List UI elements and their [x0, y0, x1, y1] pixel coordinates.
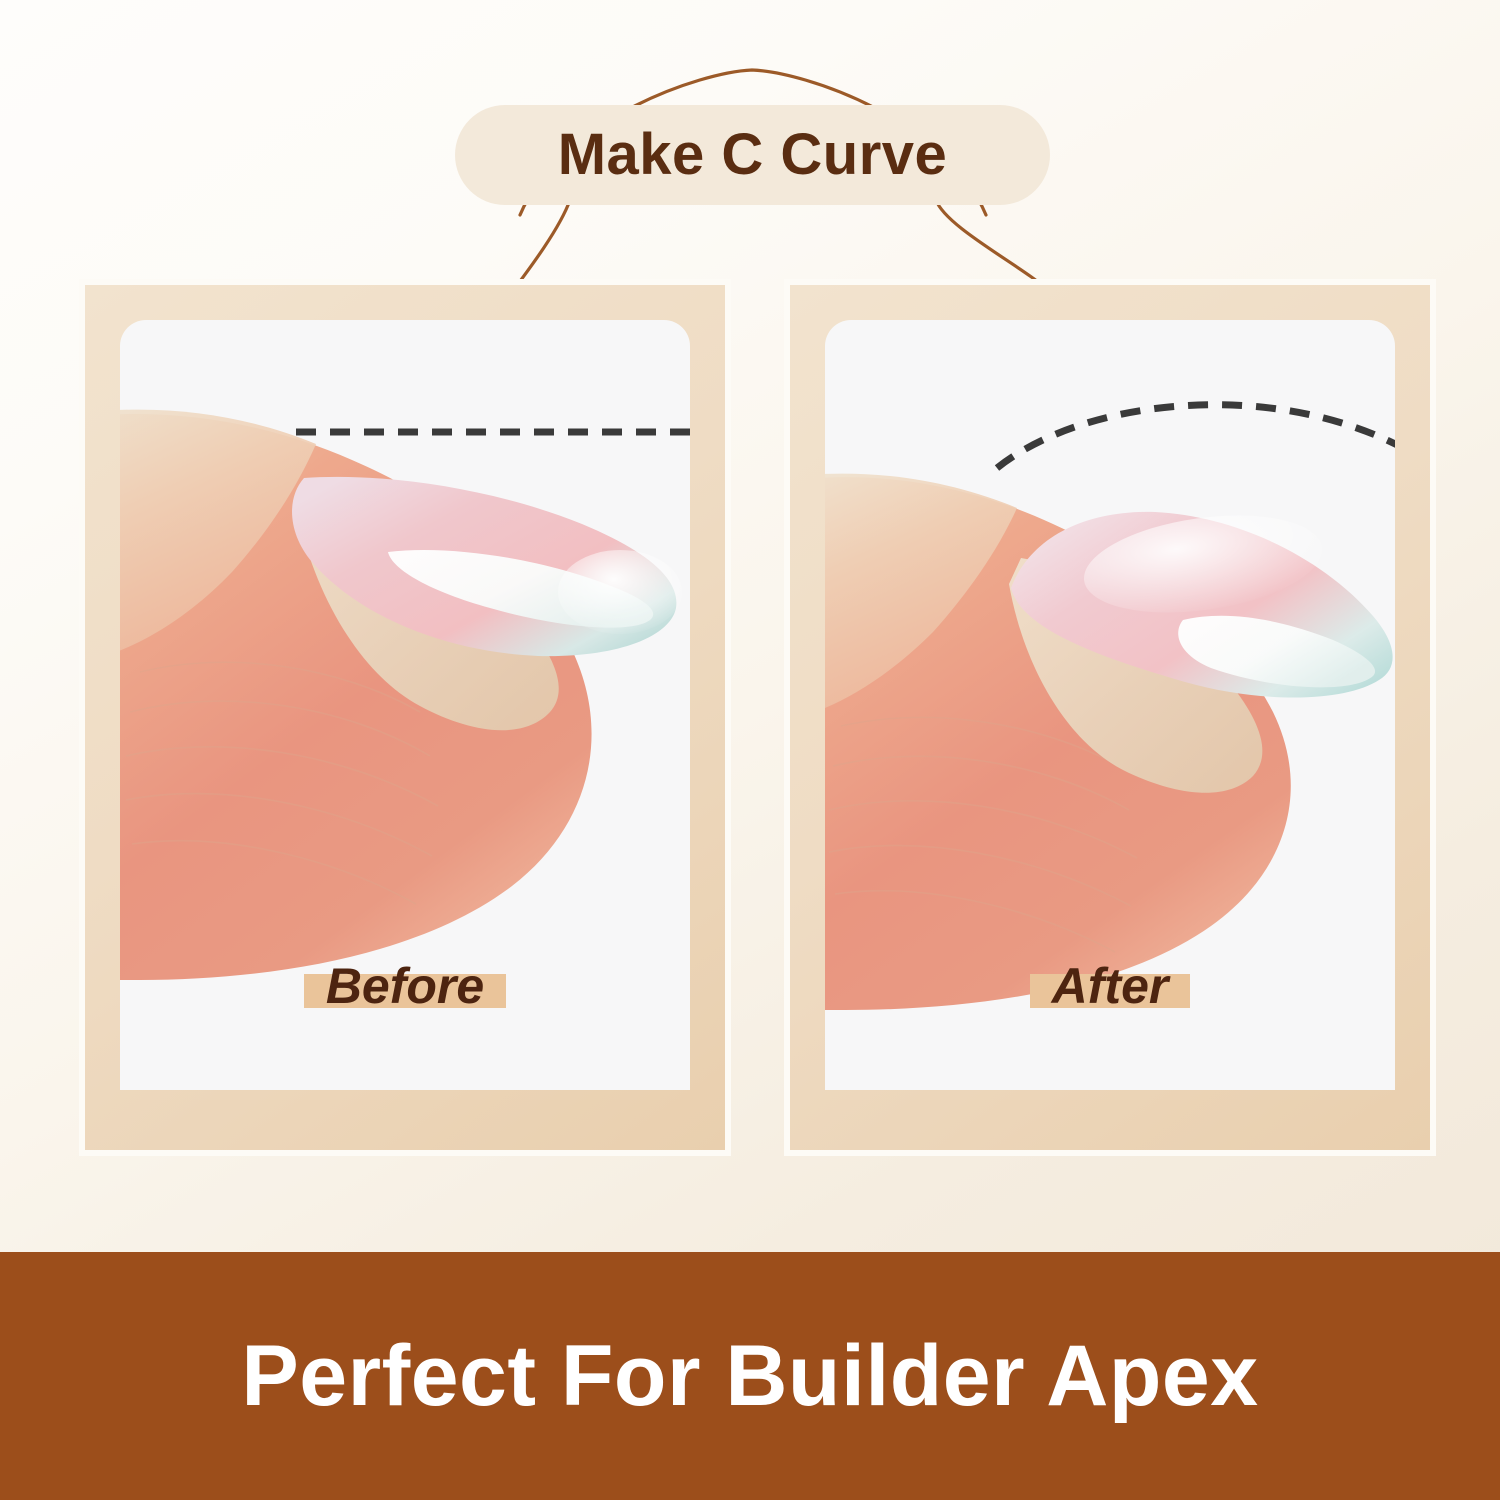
nail-tip-shine — [558, 550, 682, 634]
connector-line-right — [936, 200, 1050, 292]
page-title: Make C Curve — [558, 126, 948, 184]
banner-headline: Perfect For Builder Apex — [241, 1333, 1258, 1419]
title-pill: Make C Curve — [455, 105, 1050, 205]
panel-before: Before — [85, 285, 725, 1150]
finger-nail-curved-svg — [825, 320, 1395, 1090]
photo-after: After — [825, 320, 1395, 1090]
finger-nail-flat-svg — [120, 320, 690, 1090]
comparison-frames: Before — [0, 285, 1500, 1150]
bottom-banner: Perfect For Builder Apex — [0, 1252, 1500, 1500]
poster-root: Make C Curve — [0, 0, 1500, 1500]
nail-illustration-after — [825, 320, 1395, 1090]
connector-line-left — [512, 200, 570, 292]
photo-before: Before — [120, 320, 690, 1090]
nail-illustration-before — [120, 320, 690, 1090]
panel-after: After — [790, 285, 1430, 1150]
guide-dashed-arc — [997, 405, 1395, 528]
